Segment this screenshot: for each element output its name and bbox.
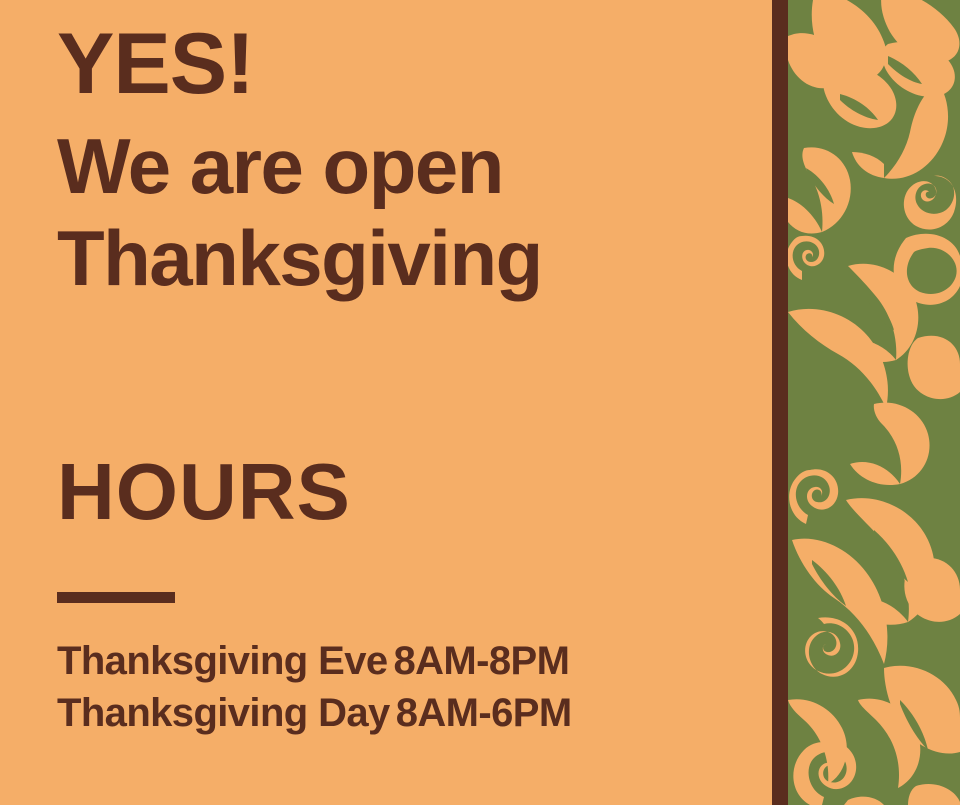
hours-row-time: 8AM-8PM: [394, 639, 570, 683]
hours-heading-block: HOURS: [57, 452, 747, 603]
vertical-divider-stripe: [772, 0, 788, 805]
hours-divider-rule: [57, 592, 175, 603]
headline-line-open: We are open: [57, 124, 747, 208]
hours-row: Thanksgiving Eve8AM-8PM: [57, 635, 747, 687]
headline-block: YES! We are open Thanksgiving: [57, 18, 747, 300]
poster-content-area: YES! We are open Thanksgiving HOURS Than…: [0, 0, 772, 805]
hours-row: Thanksgiving Day8AM-6PM: [57, 687, 747, 739]
headline-line-thanksgiving: Thanksgiving: [57, 216, 747, 300]
hours-title: HOURS: [57, 452, 747, 532]
hours-row-label: Thanksgiving Day: [57, 691, 390, 735]
hours-list: Thanksgiving Eve8AM-8PM Thanksgiving Day…: [57, 635, 747, 739]
hours-row-label: Thanksgiving Eve: [57, 639, 388, 683]
thanksgiving-hours-poster: YES! We are open Thanksgiving HOURS Than…: [0, 0, 960, 805]
hours-row-time: 8AM-6PM: [396, 691, 572, 735]
headline-line-yes: YES!: [57, 18, 747, 110]
floral-scroll-pattern-icon: [788, 0, 960, 805]
floral-ornament-panel: [788, 0, 960, 805]
